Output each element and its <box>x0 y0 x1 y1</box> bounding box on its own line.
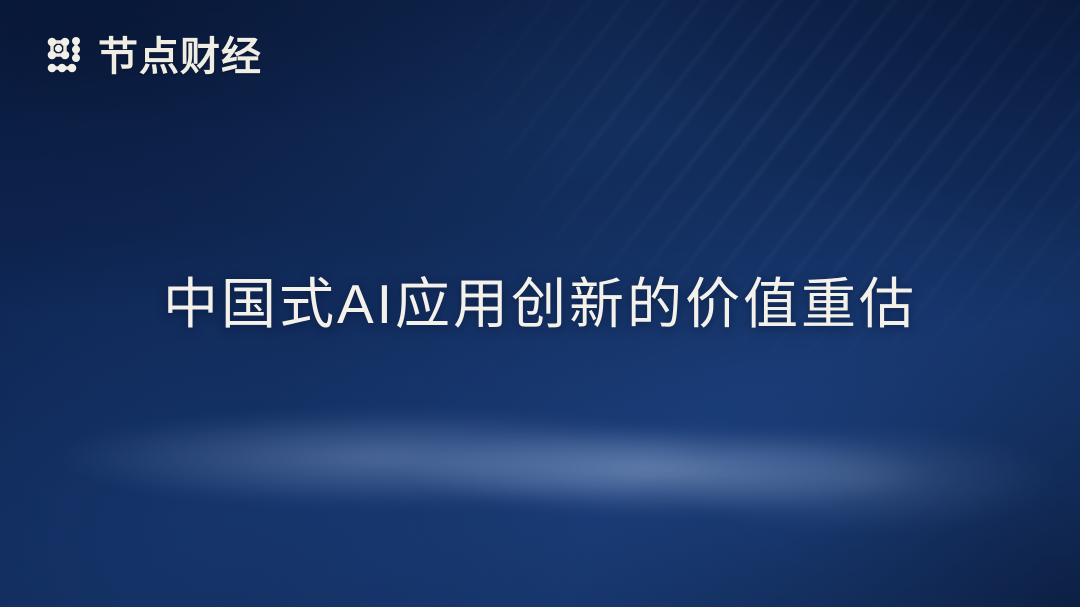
node-network-icon <box>46 36 88 78</box>
ray-group-lower <box>0 486 880 607</box>
slide-title: 中国式AI应用创新的价值重估 <box>0 272 1080 337</box>
slide-title-text: 中国式AI应用创新的价值重估 <box>163 272 917 337</box>
node-dots <box>48 37 80 72</box>
brand-logo[interactable]: 节点财经 <box>46 36 262 78</box>
brand-name: 节点财经 <box>98 37 262 77</box>
title-slide: 节点财经 中国式AI应用创新的价值重估 <box>0 0 1080 607</box>
